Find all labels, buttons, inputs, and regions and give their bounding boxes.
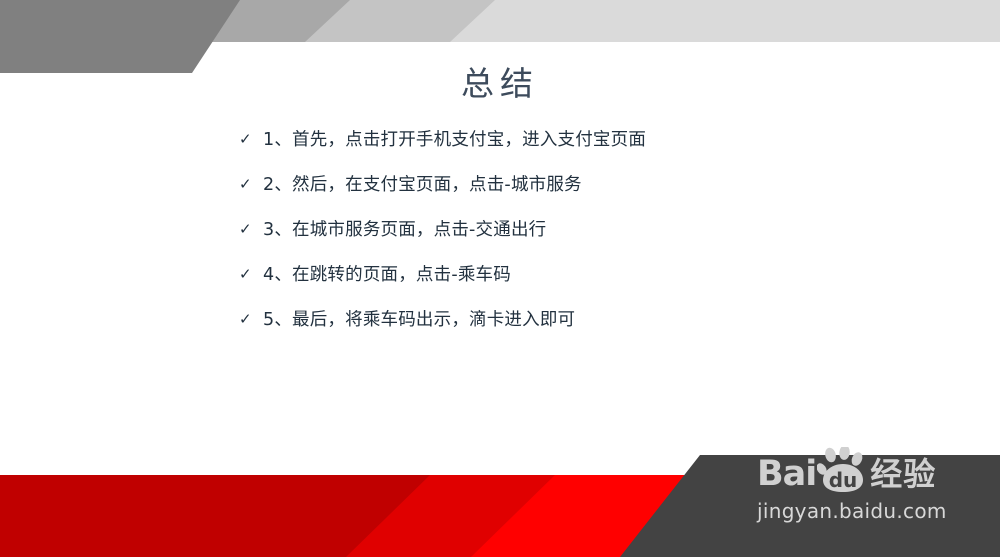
check-icon: ✓ bbox=[239, 127, 263, 151]
list-item-text: 4、在跳转的页面，点击-乘车码 bbox=[263, 263, 511, 287]
footer-band-red-3 bbox=[471, 475, 720, 557]
list-item-text: 3、在城市服务页面，点击-交通出行 bbox=[263, 218, 546, 242]
header-band-2 bbox=[187, 0, 350, 42]
slide-canvas: 总结 ✓ 1、首先，点击打开手机支付宝，进入支付宝页面 ✓ 2、然后，在支付宝页… bbox=[0, 0, 1000, 557]
check-icon: ✓ bbox=[239, 307, 263, 331]
logo-jingyan-text: 经验 bbox=[870, 456, 936, 492]
baidu-jingyan-logo: Bai du 经验 jingyan.baidu.com bbox=[757, 452, 987, 544]
check-icon: ✓ bbox=[239, 262, 263, 286]
page-title: 总结 bbox=[0, 62, 1000, 106]
check-icon: ✓ bbox=[239, 217, 263, 241]
summary-list: ✓ 1、首先，点击打开手机支付宝，进入支付宝页面 ✓ 2、然后，在支付宝页面，点… bbox=[239, 128, 959, 353]
list-item: ✓ 1、首先，点击打开手机支付宝，进入支付宝页面 bbox=[239, 128, 959, 173]
logo-url-text: jingyan.baidu.com bbox=[757, 498, 987, 524]
footer-band-red-1 bbox=[0, 475, 560, 557]
list-item: ✓ 4、在跳转的页面，点击-乘车码 bbox=[239, 263, 959, 308]
check-icon: ✓ bbox=[239, 172, 263, 196]
header-band-3 bbox=[295, 0, 495, 42]
list-item: ✓ 2、然后，在支付宝页面，点击-城市服务 bbox=[239, 173, 959, 218]
logo-wordmark-row: Bai du 经验 bbox=[757, 452, 987, 496]
list-item-text: 1、首先，点击打开手机支付宝，进入支付宝页面 bbox=[263, 128, 646, 152]
list-item: ✓ 5、最后，将乘车码出示，滴卡进入即可 bbox=[239, 308, 959, 353]
list-item: ✓ 3、在城市服务页面，点击-交通出行 bbox=[239, 218, 959, 263]
logo-du-text: du bbox=[829, 468, 858, 492]
header-band-4 bbox=[411, 0, 1000, 42]
paw-print-icon: du bbox=[817, 447, 867, 493]
logo-bai-text: Bai bbox=[757, 456, 816, 492]
list-item-text: 2、然后，在支付宝页面，点击-城市服务 bbox=[263, 173, 582, 197]
list-item-text: 5、最后，将乘车码出示，滴卡进入即可 bbox=[263, 308, 575, 332]
footer-band-red-2 bbox=[346, 475, 640, 557]
